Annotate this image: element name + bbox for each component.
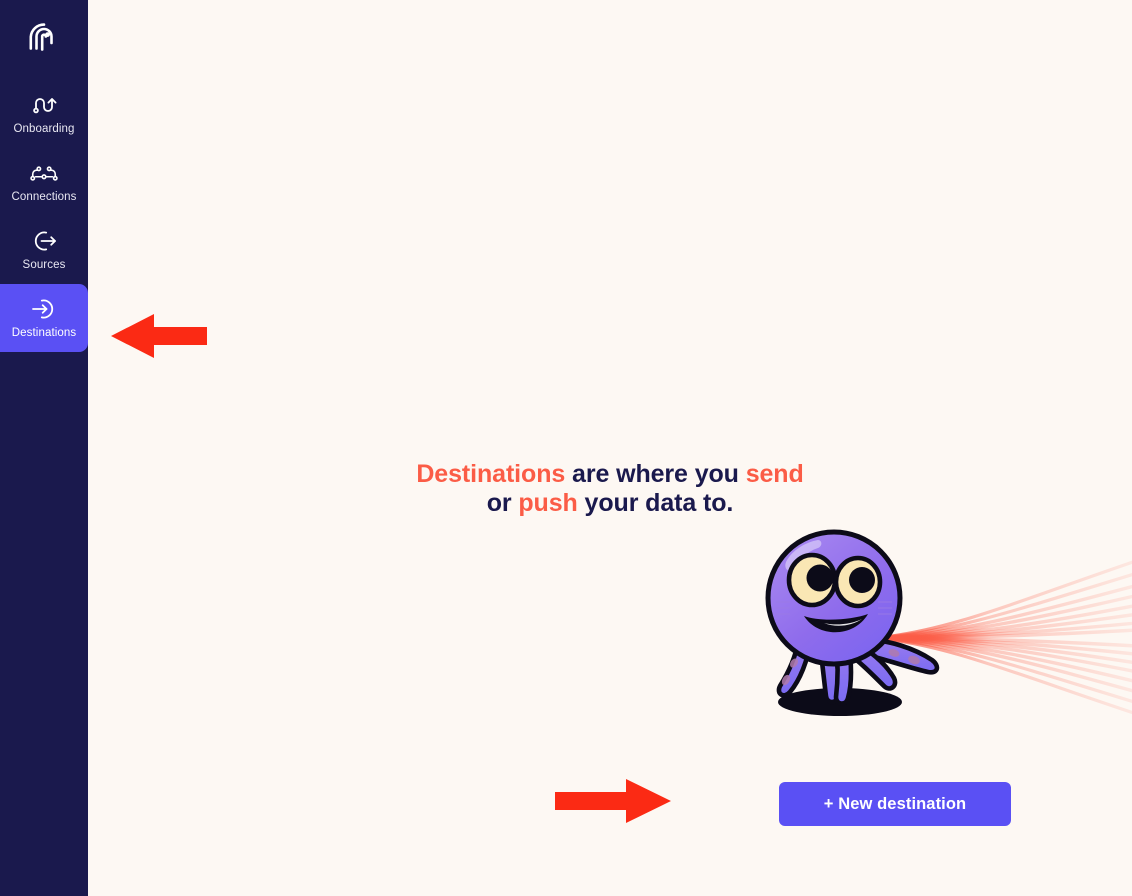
sidebar-item-label: Sources	[23, 259, 66, 272]
sources-icon	[29, 228, 59, 254]
headline-word-send: send	[746, 460, 804, 488]
sidebar-item-destinations[interactable]: Destinations	[0, 284, 88, 352]
headline-word-are-where-you: are where you	[565, 460, 746, 488]
sidebar-item-label: Connections	[11, 191, 76, 204]
page-title: Destinations are where you sendor push y…	[260, 460, 960, 519]
ink-rays	[876, 540, 1132, 734]
mascot-head	[768, 532, 900, 664]
sidebar-item-label: Destinations	[12, 327, 76, 340]
airbyte-logo-icon	[23, 16, 65, 58]
app-root: Onboarding Connections	[0, 0, 1132, 896]
sidebar-item-onboarding[interactable]: Onboarding	[0, 80, 88, 148]
new-destination-button[interactable]: + New destination	[779, 782, 1011, 826]
sidebar-item-label: Onboarding	[13, 123, 74, 136]
sidebar-item-connections[interactable]: Connections	[0, 148, 88, 216]
onboarding-icon	[29, 92, 59, 118]
logo-dot	[45, 32, 50, 37]
octopus-mascot-icon	[728, 520, 1132, 760]
airbyte-logo[interactable]	[0, 0, 88, 74]
headline-word-push: push	[518, 489, 577, 517]
sidebar-item-sources[interactable]: Sources	[0, 216, 88, 284]
headline-word-or: or	[487, 489, 519, 517]
destinations-icon	[29, 296, 59, 322]
headline-word-your-data-to: your data to.	[578, 489, 734, 517]
sidebar: Onboarding Connections	[0, 0, 88, 896]
main-content: Destinations are where you sendor push y…	[88, 0, 1132, 896]
headline-word-destinations: Destinations	[416, 460, 565, 488]
connections-icon	[29, 160, 59, 186]
destinations-empty-state: Destinations are where you sendor push y…	[88, 0, 1132, 896]
octopus-mascot-illustration	[728, 520, 1132, 760]
